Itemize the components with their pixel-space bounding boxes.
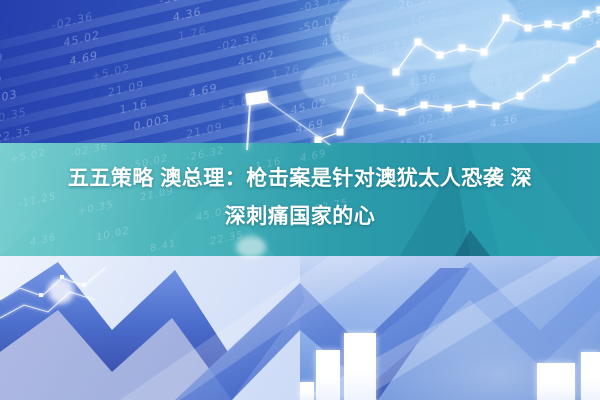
headline-text: 五五策略 澳总理：枪击案是针对澳犹太人恐袭 深 深刺痛国家的心	[0, 160, 600, 236]
headline-line-2: 深刺痛国家的心	[0, 198, 600, 236]
headline-line-1: 五五策略 澳总理：枪击案是针对澳犹太人恐袭 深	[0, 160, 600, 198]
news-banner-image: +5.02-02.36-50.02-26.32-11.25+0.3521.094…	[0, 0, 600, 400]
